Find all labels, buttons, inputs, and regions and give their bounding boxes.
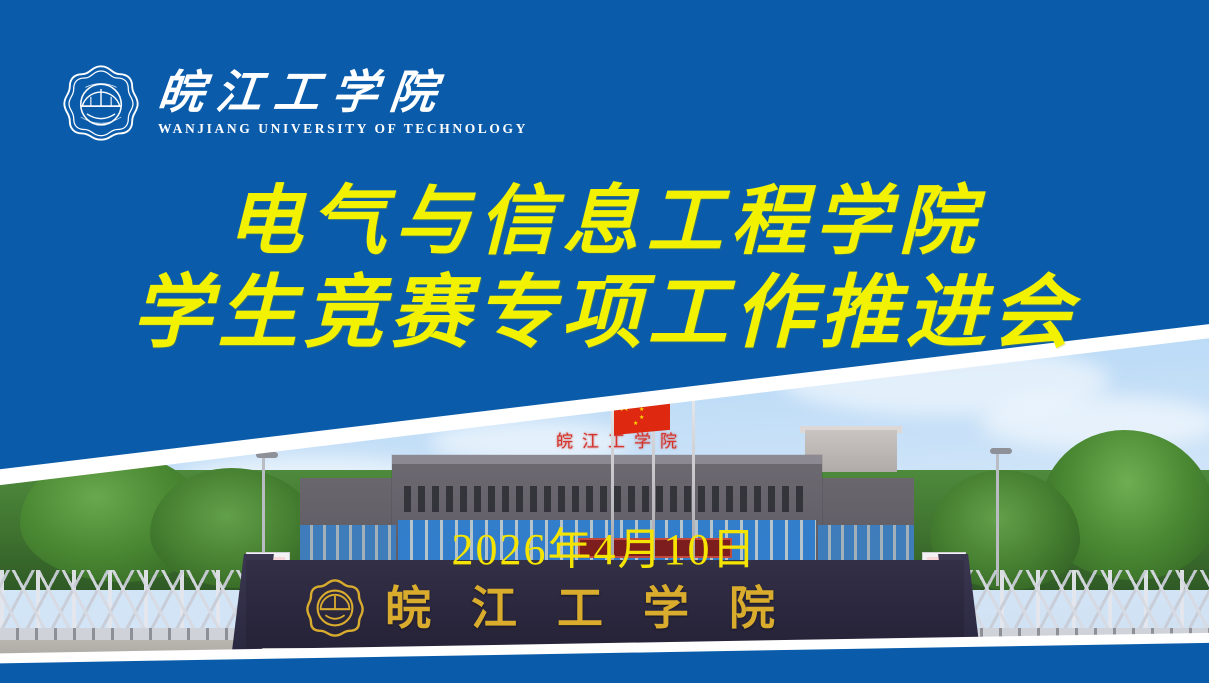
wanjiang-university-seal-icon [62, 64, 140, 142]
building-window-row [404, 486, 803, 512]
building-cornice [392, 455, 822, 464]
title-line-1: 电气与信息工程学院 [0, 176, 1209, 268]
logo-english-name: WANJIANG UNIVERSITY OF TECHNOLOGY [158, 120, 528, 138]
slide-title: 电气与信息工程学院 学生竞赛专项工作推进会 [0, 176, 1209, 360]
flag-star: ★ [618, 402, 631, 411]
gate-wall-text: 皖江工学院 [385, 578, 945, 640]
slide-date: 2026年4月10日 [0, 524, 1209, 576]
flag-star: ★ [633, 420, 638, 429]
street-lamp-head [256, 452, 278, 458]
presentation-title-slide: 皖江工学院 ★ ★ ★ ★ ★ [0, 0, 1209, 683]
flag-star: ★ [633, 400, 638, 409]
street-lamp-head [990, 448, 1012, 454]
wanjiang-university-seal-gold-icon [305, 578, 365, 638]
logo-wordmark: 皖江工学院 WANJIANG UNIVERSITY OF TECHNOLOGY [158, 68, 528, 138]
logo-chinese-name: 皖江工学院 [155, 68, 530, 118]
title-line-2: 学生竞赛专项工作推进会 [0, 268, 1209, 360]
university-logo: 皖江工学院 WANJIANG UNIVERSITY OF TECHNOLOGY [62, 58, 512, 148]
flag-star: ★ [639, 414, 644, 423]
